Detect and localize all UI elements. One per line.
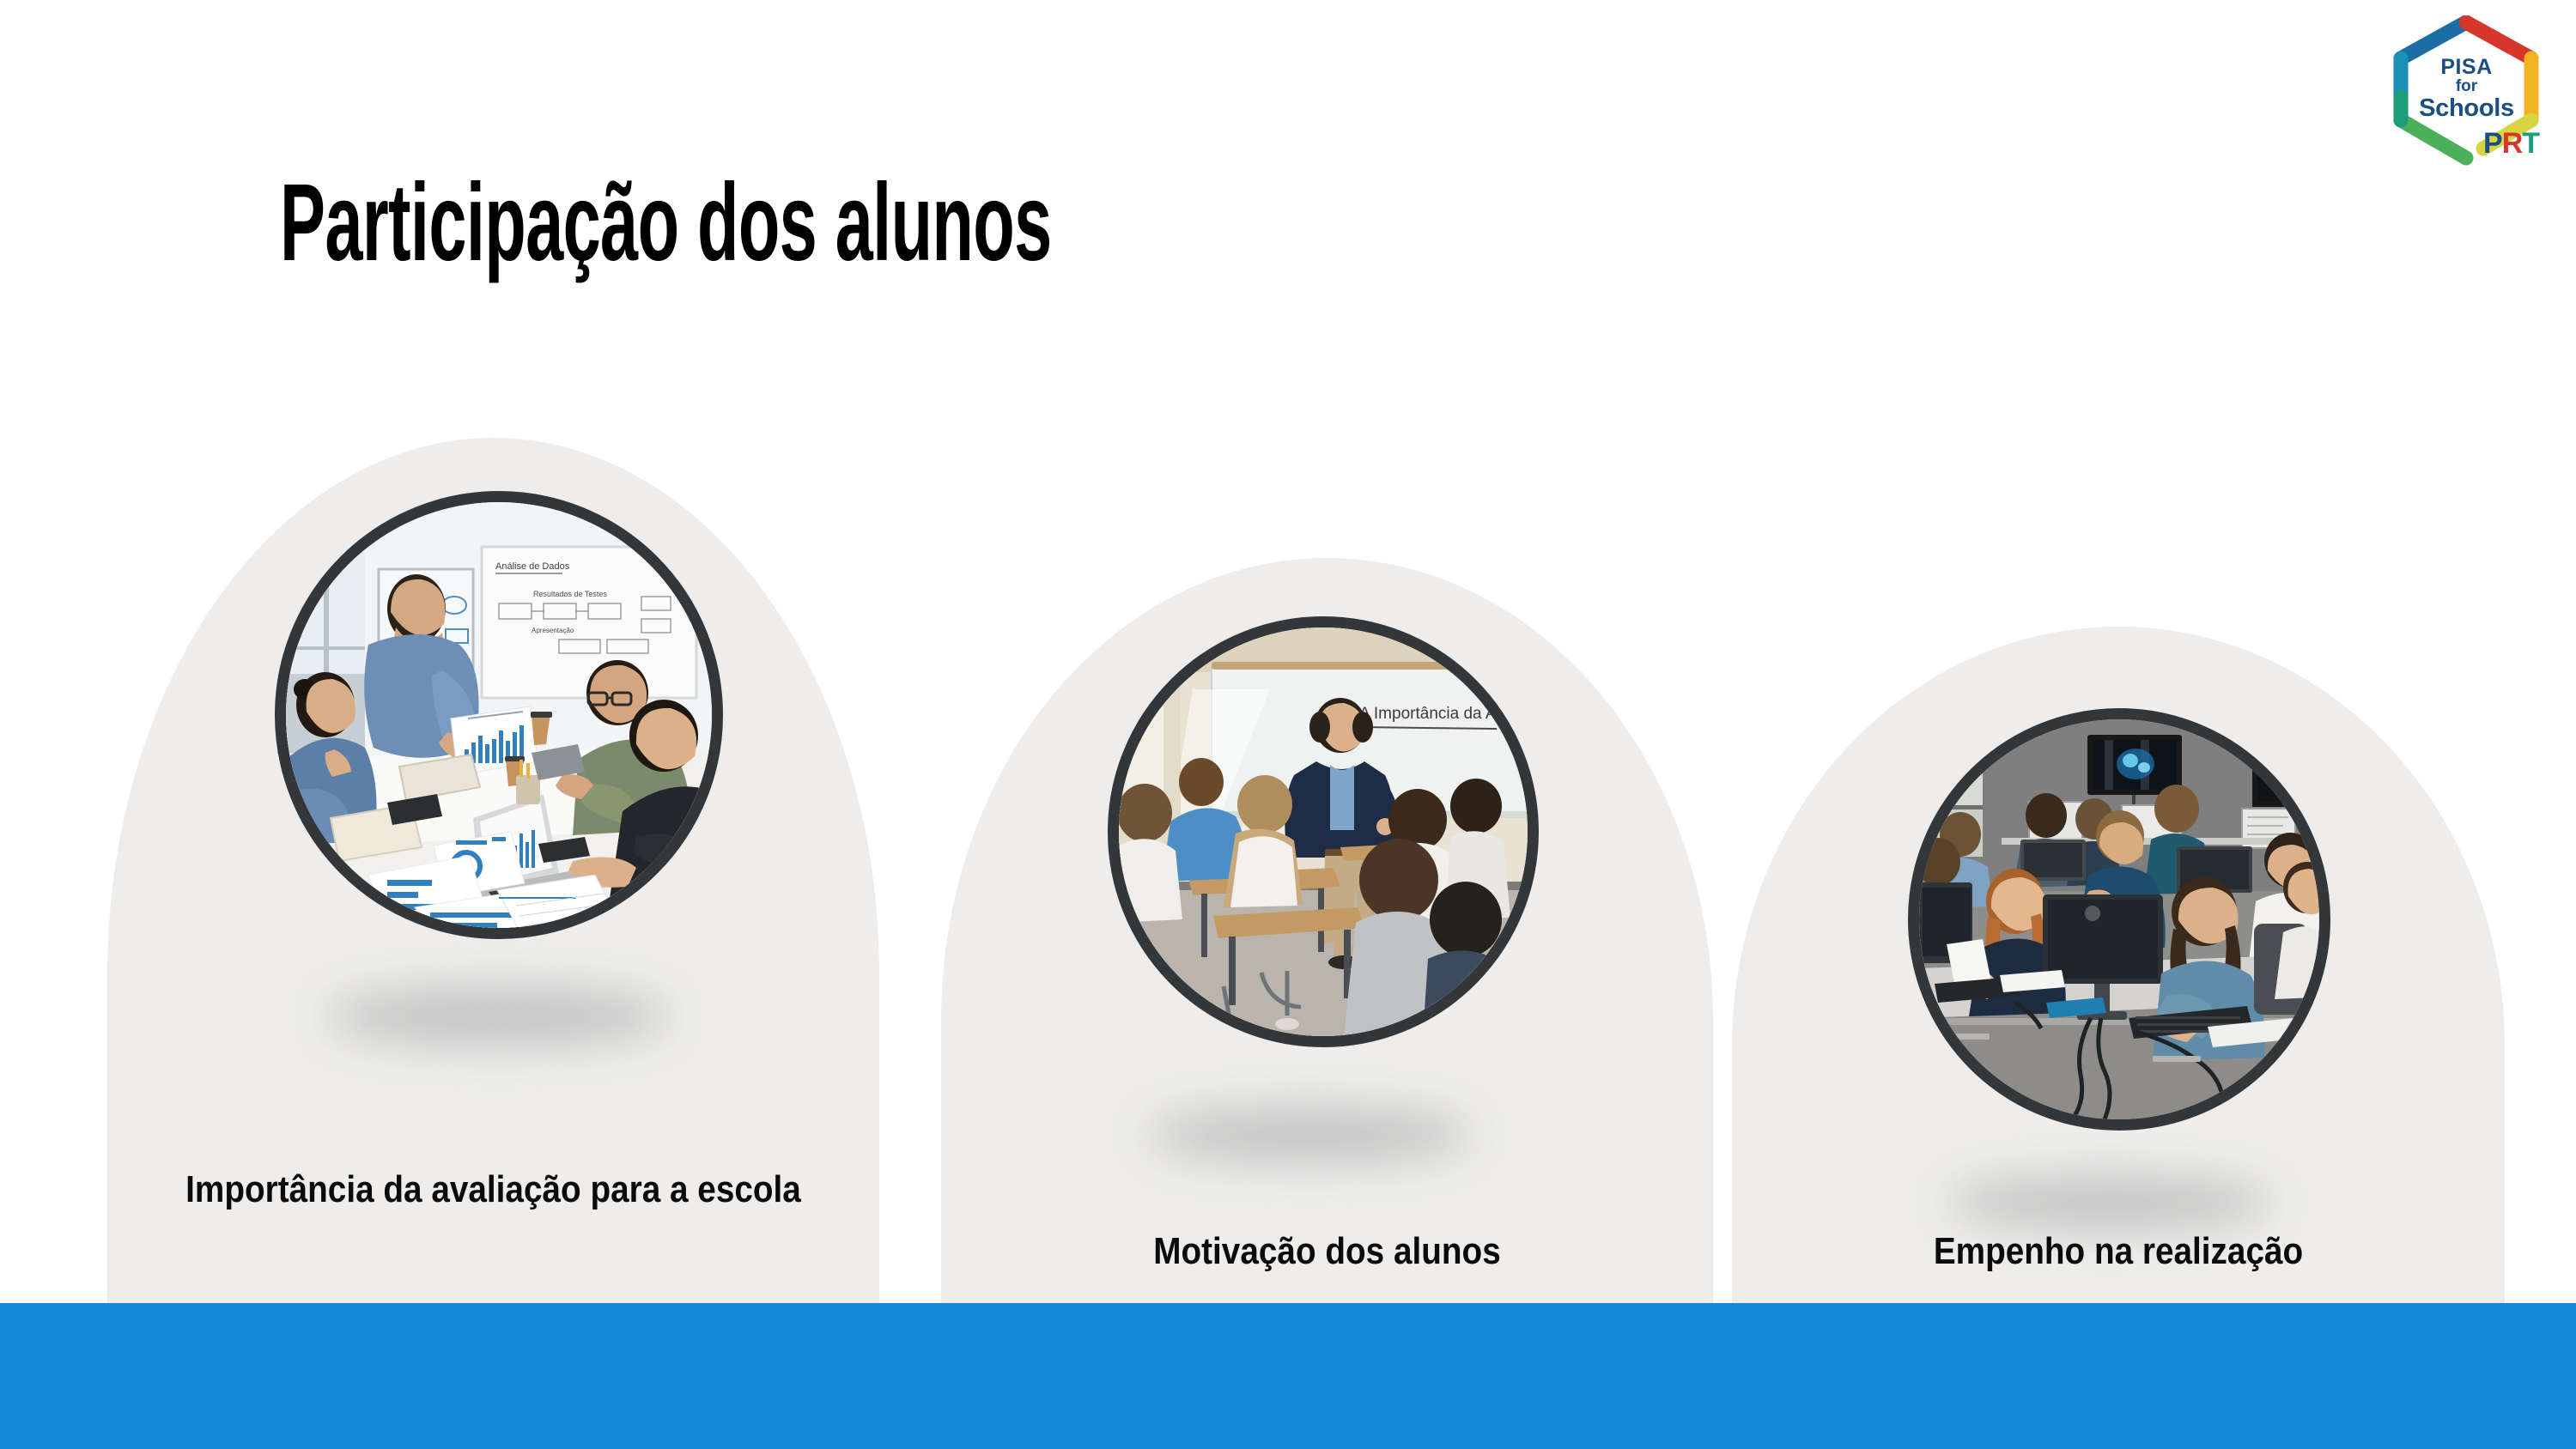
svg-text:A Importância da Aval: A Importância da Aval [1359, 705, 1516, 723]
card-caption-1: Importância da avaliação para a escola [154, 1166, 833, 1214]
logo-country-p: P [2483, 127, 2502, 160]
bottom-accent-bar [0, 1303, 2576, 1449]
card-caption-3: Empenho na realização [1778, 1228, 2458, 1276]
logo-country-t: T [2522, 127, 2539, 160]
svg-text:Apresentação: Apresentação [532, 627, 574, 634]
photo-shadow-3 [1947, 1178, 2272, 1228]
classroom-teacher-photo: A Importância da Aval [1108, 616, 1539, 1047]
photo-1-content: Análise de Dados Resultados de Testes Ap… [286, 502, 712, 928]
photo-2-content: A Importância da Aval [1119, 627, 1528, 1036]
svg-text:Análise de Dados: Análise de Dados [495, 561, 570, 572]
card-caption-2: Motivação dos alunos [987, 1228, 1667, 1276]
meeting-data-analysis-photo: Análise de Dados Resultados de Testes Ap… [275, 491, 723, 939]
photo-shadow-2 [1147, 1109, 1472, 1161]
page-title: Participação dos alunos [280, 168, 1052, 278]
computer-lab-students-photo [1908, 708, 2330, 1131]
logo-country-code: PRT [2483, 129, 2539, 158]
logo-country-r: R [2502, 127, 2523, 160]
pisa-for-schools-logo: PISA for Schools PRT [2387, 15, 2546, 174]
svg-text:Resultados de Testes: Resultados de Testes [533, 590, 607, 598]
photo-3-content [1919, 719, 2319, 1119]
photo-shadow-1 [326, 989, 670, 1044]
slide-canvas: PISA for Schools PRT Participação dos al… [0, 0, 2576, 1449]
